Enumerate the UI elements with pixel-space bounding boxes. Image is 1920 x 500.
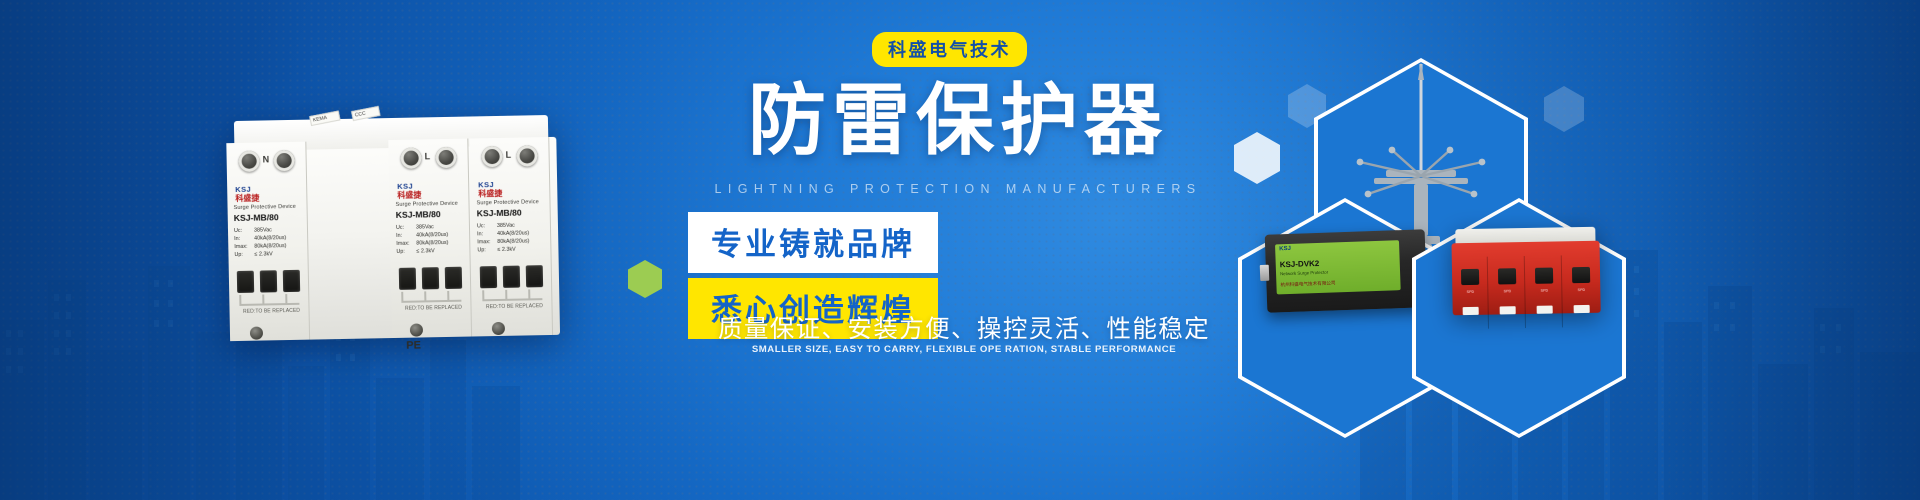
spd-spec-row: Up: ≤ 2.3kV bbox=[477, 245, 551, 254]
module-company-cn: 杭州科盛电气技术有限公司 bbox=[1280, 280, 1335, 288]
banner-title: 防雷保护器 bbox=[588, 80, 1328, 162]
indicator-window bbox=[237, 271, 254, 293]
pole-label: SPD bbox=[1566, 288, 1596, 293]
banner-tagline: 质量保证、安装方便、操控灵活、性能稳定 bbox=[594, 310, 1334, 345]
module-pcb-face: KSJ KSJ-DVK2 Network Surge Protector 杭州科… bbox=[1275, 240, 1401, 294]
spd-brand-cn: 科盛捷 bbox=[478, 187, 544, 199]
terminal-screw-icon bbox=[238, 151, 259, 172]
spd-model: KSJ-MB/80 bbox=[477, 207, 551, 218]
spd-brand-cn: 科盛捷 bbox=[397, 189, 463, 201]
indicator-window bbox=[1461, 269, 1479, 285]
pole-lever bbox=[1574, 305, 1590, 313]
spd-pe-label: PE bbox=[406, 339, 421, 351]
promo-banner: L KSJ 科盛捷 Surge Protective Device KSJ-MB… bbox=[0, 0, 1920, 500]
banner-tagline-english: SMALLER SIZE, EASY TO CARRY, FLEXIBLE OP… bbox=[594, 344, 1334, 355]
spd-pole: SPD bbox=[1526, 255, 1563, 328]
terminal-screw-icon bbox=[273, 150, 294, 171]
indicator-window bbox=[1572, 267, 1590, 283]
pole-lever bbox=[1537, 306, 1553, 314]
spd-module: L KSJ 科盛捷 Surge Protective Device KSJ-MB… bbox=[469, 137, 553, 336]
spd-indicator-windows bbox=[399, 267, 463, 290]
spec-key: Up: bbox=[477, 246, 494, 254]
spd-type-line: Surge Protective Device bbox=[395, 201, 467, 208]
decor-hexagon-small bbox=[1544, 86, 1584, 132]
spd-pole: SPD bbox=[1489, 256, 1526, 329]
red-surge-protector-image: SPD SPD SPD SPD bbox=[1451, 227, 1600, 316]
terminal-label: L bbox=[506, 150, 512, 160]
spd-replace-note: RED:TO BE REPLACED bbox=[395, 305, 471, 312]
terminal-label: N bbox=[263, 154, 270, 164]
spec-value: ≤ 2.3kV bbox=[416, 247, 470, 256]
spd-brand-cn: 科盛捷 bbox=[235, 192, 301, 204]
pole-lever bbox=[1463, 307, 1479, 315]
module-subtitle: Network Surge Protector bbox=[1280, 270, 1328, 277]
spec-value: ≤ 2.3kV bbox=[497, 245, 551, 254]
pole-lever bbox=[1500, 306, 1516, 314]
spd-red-body: SPD SPD SPD SPD bbox=[1452, 241, 1601, 316]
module-brand: KSJ bbox=[1279, 246, 1291, 252]
spd-pole: SPD bbox=[1452, 257, 1489, 330]
spd-model: KSJ-MB/80 bbox=[234, 212, 308, 223]
pole-label: SPD bbox=[1455, 290, 1485, 295]
spd-model: KSJ-MB/80 bbox=[396, 209, 470, 220]
spd-indicator-windows bbox=[237, 270, 301, 293]
spd-spec-row: Up: ≤ 2.3kV bbox=[396, 247, 470, 256]
spd-indicator-windows bbox=[480, 265, 544, 288]
terminal-screw-icon bbox=[516, 145, 537, 166]
module-model: KSJ-DVK2 bbox=[1280, 259, 1320, 269]
spd-replace-note: RED:TO BE REPLACED bbox=[234, 308, 310, 315]
indicator-window bbox=[503, 266, 520, 288]
terminal-screw-icon bbox=[481, 146, 502, 167]
terminal-screw-icon bbox=[435, 147, 456, 168]
indicator-window bbox=[422, 267, 439, 289]
spd-pin-marks bbox=[401, 291, 461, 302]
indicator-window bbox=[445, 267, 462, 289]
company-badge: 科盛电气技术 bbox=[872, 32, 1027, 67]
product-image-spd-modules: L KSJ 科盛捷 Surge Protective Device KSJ-MB… bbox=[226, 115, 560, 343]
module-lug bbox=[1260, 265, 1270, 281]
indicator-window bbox=[480, 266, 497, 288]
indicator-window bbox=[260, 270, 277, 292]
network-spd-module-image: KSJ KSJ-DVK2 Network Surge Protector 杭州科… bbox=[1265, 229, 1428, 313]
spd-pin-marks bbox=[482, 289, 542, 300]
spd-type-line: Surge Protective Device bbox=[234, 204, 306, 211]
spd-module: N KSJ 科盛捷 Surge Protective Device KSJ-MB… bbox=[226, 142, 310, 341]
spd-spec-row: Up: ≤ 2.3kV bbox=[234, 250, 308, 259]
product-hex-collage: KSJ KSJ-DVK2 Network Surge Protector 杭州科… bbox=[1160, 0, 1920, 500]
spec-key: Up: bbox=[396, 248, 413, 256]
spd-pin-marks bbox=[239, 294, 299, 305]
indicator-window bbox=[526, 265, 543, 287]
indicator-window bbox=[1535, 268, 1553, 284]
terminal-screw-icon bbox=[400, 147, 421, 168]
banner-title-english: LIGHTNING PROTECTION MANUFACTURERS bbox=[588, 182, 1328, 196]
pole-label: SPD bbox=[1529, 288, 1559, 293]
spec-key: Up: bbox=[234, 251, 251, 259]
pole-label: SPD bbox=[1492, 289, 1522, 294]
indicator-window bbox=[399, 268, 416, 290]
spd-replace-note: RED:TO BE REPLACED bbox=[476, 303, 552, 310]
spd-pole: SPD bbox=[1563, 255, 1600, 328]
indicator-window bbox=[1498, 268, 1516, 284]
spec-value: ≤ 2.3kV bbox=[254, 250, 308, 259]
slogan-primary: 专业铸就品牌 bbox=[688, 212, 938, 273]
spd-type-line: Surge Protective Device bbox=[476, 199, 548, 206]
terminal-label: L bbox=[425, 151, 431, 161]
indicator-window bbox=[283, 270, 300, 292]
decor-hexagon-green bbox=[628, 260, 662, 298]
spd-module: L KSJ 科盛捷 Surge Protective Device KSJ-MB… bbox=[388, 139, 472, 338]
